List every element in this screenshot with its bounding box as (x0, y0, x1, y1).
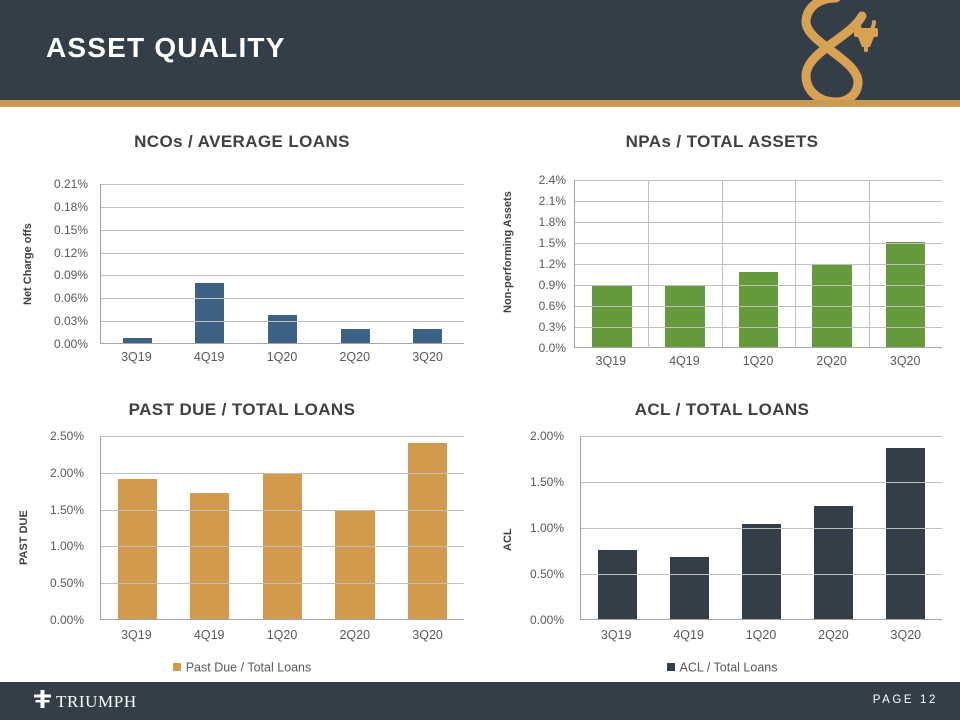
bar-cell (101, 436, 174, 620)
y-tick-label: 0.50% (50, 576, 84, 590)
gridline (101, 253, 464, 254)
y-tick-label: 0.06% (54, 291, 88, 305)
axis-baseline (101, 343, 464, 344)
gridline (581, 528, 942, 529)
y-axis-title: PAST DUE (18, 478, 30, 598)
y-tick-label: 0.18% (54, 200, 88, 214)
slide: ASSET QUALITY NCOs / AVERAGE LOANS Net C… (0, 0, 960, 720)
bar (886, 448, 925, 620)
gridline (101, 546, 464, 547)
y-tick-label: 1.50% (530, 475, 564, 489)
bar (598, 550, 637, 620)
x-axis-labels: 3Q194Q191Q202Q203Q20 (580, 628, 942, 642)
x-tick-label: 3Q19 (100, 628, 173, 642)
plot-area: 0.00%0.50%1.00%1.50%2.00% (514, 436, 942, 620)
bar (413, 329, 442, 344)
gridline (581, 436, 942, 437)
y-axis-title: ACL (502, 510, 514, 570)
gridline-vertical (869, 180, 870, 348)
y-axis-title: Non-performing Assets (502, 172, 514, 332)
bar-cell (391, 184, 464, 344)
bar (886, 242, 926, 348)
x-tick-label: 3Q20 (391, 628, 464, 642)
triumph-cross-icon (34, 690, 51, 713)
y-axis-ticks: 0.00%0.50%1.00%1.50%2.00% (514, 436, 570, 620)
y-axis-ticks: 0.0%0.3%0.6%0.9%1.2%1.5%1.8%2.1%2.4% (516, 180, 572, 348)
x-tick-label: 1Q20 (725, 628, 797, 642)
gridline (101, 184, 464, 185)
legend-label: ACL / Total Loans (680, 661, 778, 675)
gridline (101, 275, 464, 276)
plot (100, 184, 464, 344)
gridline (581, 574, 942, 575)
x-axis-labels: 3Q194Q191Q202Q203Q20 (100, 350, 464, 364)
y-tick-label: 2.00% (50, 466, 84, 480)
chart-acl-total-loans: ACL / TOTAL LOANS ACL 0.00%0.50%1.00%1.5… (488, 400, 956, 686)
x-axis-labels: 3Q194Q191Q202Q203Q20 (574, 354, 942, 368)
y-tick-label: 0.00% (50, 613, 84, 627)
x-tick-label: 3Q19 (100, 350, 173, 364)
gridline (101, 298, 464, 299)
x-tick-label: 4Q19 (648, 354, 722, 368)
gridline (575, 306, 942, 307)
plot (580, 436, 942, 620)
page-title: ASSET QUALITY (46, 32, 286, 64)
bar-series (101, 184, 464, 344)
y-tick-label: 0.00% (530, 613, 564, 627)
chart-title: NPAs / TOTAL ASSETS (488, 132, 956, 152)
plot-area: 0.00%0.50%1.00%1.50%2.00%2.50% (34, 436, 464, 620)
x-tick-label: 3Q20 (870, 628, 942, 642)
gridline (581, 482, 942, 483)
y-tick-label: 0.03% (54, 314, 88, 328)
chart-title: NCOs / AVERAGE LOANS (8, 132, 476, 152)
bar (408, 443, 447, 620)
x-axis-labels: 3Q194Q191Q202Q203Q20 (100, 628, 464, 642)
gridline (101, 473, 464, 474)
legend-label: Past Due / Total Loans (186, 661, 312, 675)
y-tick-label: 1.2% (539, 257, 566, 271)
slide-header: ASSET QUALITY (0, 0, 960, 100)
chart-npas-total-assets: NPAs / TOTAL ASSETS Non-performing Asset… (488, 132, 956, 384)
x-tick-label: 3Q20 (391, 350, 464, 364)
y-tick-label: 1.00% (50, 539, 84, 553)
x-tick-label: 2Q20 (797, 628, 869, 642)
x-tick-label: 1Q20 (721, 354, 795, 368)
y-tick-label: 0.00% (54, 337, 88, 351)
y-tick-label: 1.5% (539, 236, 566, 250)
y-tick-label: 0.0% (539, 341, 566, 355)
bar (665, 286, 705, 348)
gridline (575, 327, 942, 328)
bar (670, 557, 709, 620)
bar (742, 524, 781, 620)
chart-past-due-total-loans: PAST DUE / TOTAL LOANS PAST DUE 0.00%0.5… (8, 400, 476, 686)
x-tick-label: 3Q20 (868, 354, 942, 368)
bar (814, 506, 853, 620)
chart-title: ACL / TOTAL LOANS (488, 400, 956, 420)
x-tick-label: 3Q19 (580, 628, 652, 642)
y-tick-label: 1.00% (530, 521, 564, 535)
gridline (101, 436, 464, 437)
x-tick-label: 1Q20 (246, 628, 319, 642)
x-tick-label: 1Q20 (246, 350, 319, 364)
gridline (575, 201, 942, 202)
gridline (575, 180, 942, 181)
y-tick-label: 2.00% (530, 429, 564, 443)
legend-swatch (667, 663, 675, 671)
x-tick-label: 2Q20 (795, 354, 869, 368)
plot-area: 0.00%0.03%0.06%0.09%0.12%0.15%0.18%0.21% (38, 184, 464, 344)
gridline (101, 230, 464, 231)
y-axis-ticks: 0.00%0.03%0.06%0.09%0.12%0.15%0.18%0.21% (38, 184, 94, 344)
gridline-vertical (722, 180, 723, 348)
y-tick-label: 0.9% (539, 278, 566, 292)
ampersand-plug-icon (762, 0, 902, 100)
x-tick-label: 4Q19 (652, 628, 724, 642)
bar-cell (391, 436, 464, 620)
bar (195, 283, 224, 344)
bar-cell (174, 436, 247, 620)
y-tick-label: 2.50% (50, 429, 84, 443)
y-axis-title: Net Charge offs (22, 194, 34, 334)
gridline (101, 583, 464, 584)
y-tick-label: 2.4% (539, 173, 566, 187)
gridline (575, 285, 942, 286)
y-tick-label: 2.1% (539, 194, 566, 208)
bar-cell (101, 184, 174, 344)
x-tick-label: 3Q19 (574, 354, 648, 368)
bar (335, 510, 374, 620)
y-tick-label: 0.6% (539, 299, 566, 313)
bar (190, 493, 229, 620)
y-tick-label: 0.09% (54, 268, 88, 282)
bar-cell (246, 436, 319, 620)
y-tick-label: 1.50% (50, 503, 84, 517)
page-number: PAGE 12 (873, 694, 938, 706)
y-tick-label: 0.21% (54, 177, 88, 191)
bar-cell (319, 436, 392, 620)
gridline-vertical (795, 180, 796, 348)
legend-swatch (173, 663, 181, 671)
plot (100, 436, 464, 620)
bar-cell (246, 184, 319, 344)
x-tick-label: 4Q19 (173, 350, 246, 364)
y-tick-label: 0.12% (54, 246, 88, 260)
y-tick-label: 0.50% (530, 567, 564, 581)
y-tick-label: 1.8% (539, 215, 566, 229)
bar (341, 329, 370, 344)
gridline-vertical (648, 180, 649, 348)
gridline (101, 510, 464, 511)
chart-legend: Past Due / Total Loans (8, 660, 476, 675)
plot (574, 180, 942, 348)
bar (268, 315, 297, 344)
logo-wordmark: TRIUMPH (56, 692, 137, 712)
axis-baseline (575, 347, 942, 348)
gridline (101, 207, 464, 208)
y-axis-ticks: 0.00%0.50%1.00%1.50%2.00%2.50% (34, 436, 90, 620)
chart-title: PAST DUE / TOTAL LOANS (8, 400, 476, 420)
bar-cell (319, 184, 392, 344)
bar-cell (174, 184, 247, 344)
slide-footer: TRIUMPH PAGE 12 (0, 682, 960, 720)
gridline (575, 243, 942, 244)
bar (739, 272, 779, 348)
triumph-logo: TRIUMPH (34, 690, 137, 713)
chart-legend: ACL / Total Loans (488, 660, 956, 675)
y-tick-label: 0.3% (539, 320, 566, 334)
x-tick-label: 4Q19 (173, 628, 246, 642)
gridline (101, 321, 464, 322)
bar (118, 479, 157, 620)
y-tick-label: 0.15% (54, 223, 88, 237)
bar (592, 285, 632, 348)
axis-baseline (581, 619, 942, 620)
gridline (575, 264, 942, 265)
chart-ncos-average-loans: NCOs / AVERAGE LOANS Net Charge offs 0.0… (8, 132, 476, 384)
gridline (575, 222, 942, 223)
x-tick-label: 2Q20 (318, 350, 391, 364)
axis-baseline (101, 619, 464, 620)
header-accent-rule (0, 100, 960, 107)
plot-area: 0.0%0.3%0.6%0.9%1.2%1.5%1.8%2.1%2.4% (516, 180, 942, 348)
x-tick-label: 2Q20 (318, 628, 391, 642)
bar-series (101, 436, 464, 620)
